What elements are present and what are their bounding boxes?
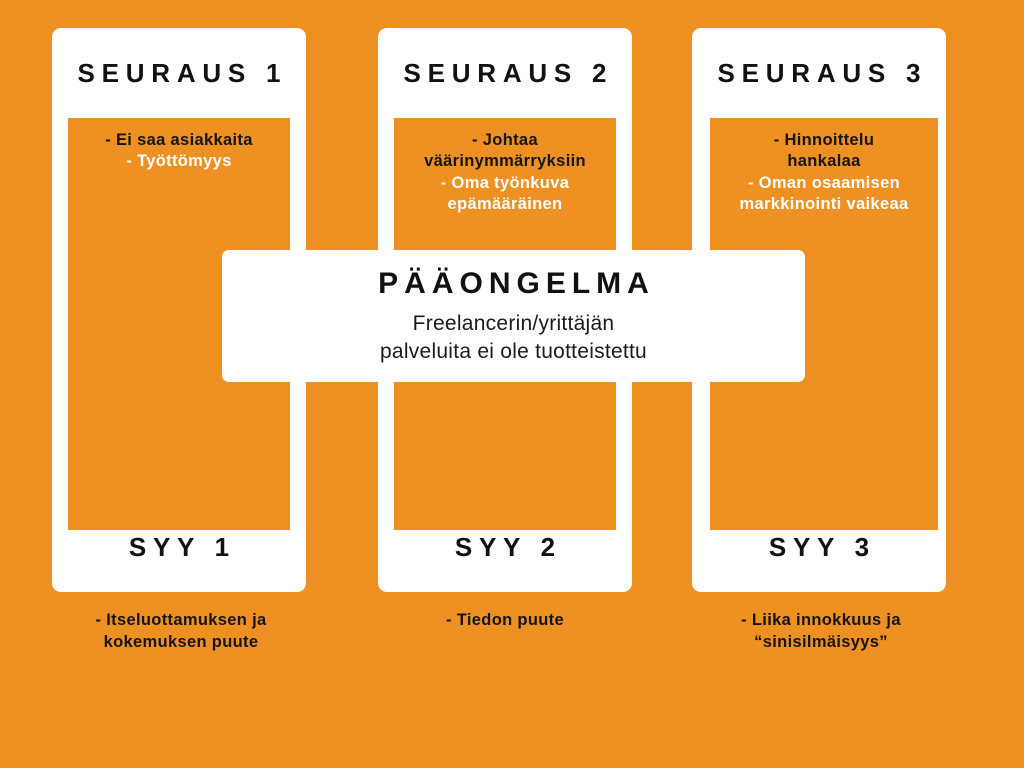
column-2-footer: SYY 2 (378, 502, 632, 592)
diagram-canvas: SEURAUS 1 - Ei saa asiakkaita - Työttömy… (0, 0, 1024, 768)
column-2-bullet-1: - Johtaa väärinymmärryksiin (394, 130, 616, 173)
column-3-bullet-2: - Oman osaamisen markkinointi vaikeaa (710, 173, 938, 216)
column-1-header: SEURAUS 1 (52, 28, 306, 118)
column-2-bullet-2: - Oma työnkuva epämääräinen (394, 173, 616, 216)
main-problem-subtitle: Freelancerin/yrittäjän palveluita ei ole… (380, 310, 647, 365)
column-3-bullet-1: - Hinnoittelu hankalaa (710, 130, 938, 173)
column-3-caption: - Liika innokkuus ja “sinisilmäisyys” (690, 610, 952, 654)
column-1-caption: - Itseluottamuksen ja kokemuksen puute (50, 610, 312, 654)
column-3-header: SEURAUS 3 (692, 28, 946, 118)
column-2-caption: - Tiedon puute (378, 610, 632, 632)
main-problem-title: PÄÄONGELMA (372, 267, 655, 301)
column-2-header: SEURAUS 2 (378, 28, 632, 118)
column-3-footer: SYY 3 (692, 502, 946, 592)
column-1-footer: SYY 1 (52, 502, 306, 592)
column-1-bullet-2: - Työttömyys (68, 151, 290, 172)
main-problem-box: PÄÄONGELMA Freelancerin/yrittäjän palvel… (222, 250, 805, 382)
column-1-bullet-1: - Ei saa asiakkaita (68, 130, 290, 151)
